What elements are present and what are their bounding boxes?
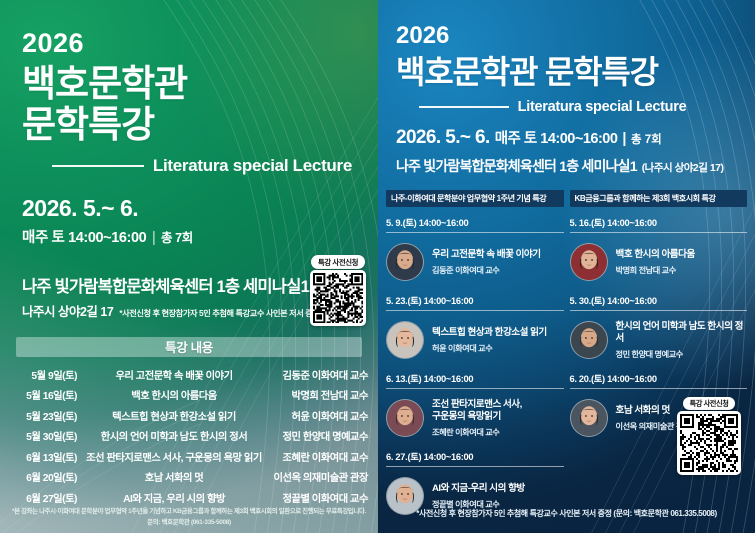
avatar	[570, 321, 608, 359]
column-header-2: KB금융그룹과 함께하는 제3회 백호시회 특강	[570, 190, 748, 207]
card-time: 6. 27.(토) 14:00~16:00	[386, 449, 564, 466]
green-subtitle-row: Literatura special Lecture	[22, 156, 360, 176]
blue-date-row: 2026. 5.~ 6. 매주 토 14:00~16:00 | 총 7회	[396, 127, 739, 149]
green-schedule-row: 매주 토 14:00~16:00 | 총 7회	[22, 226, 360, 247]
session-card[interactable]: 6. 13.(토) 14:00~16:00 조선 판타지로맨스 서사,구운몽의 …	[386, 371, 564, 441]
row-title: 호남 서화의 멋	[84, 469, 264, 484]
session-card[interactable]: 5. 9.(토) 14:00~16:00 우리 고전문학 속 배꽃 이야기 김동…	[386, 215, 564, 285]
avatar	[570, 399, 608, 437]
row-speaker: 김동준 이화여대 교수	[264, 367, 368, 382]
card-rule	[386, 310, 564, 311]
session-card[interactable]: 5. 30.(토) 14:00~16:00 한시의 언어 미학과 남도 한시의 …	[570, 293, 748, 363]
avatar	[386, 321, 424, 359]
green-qr-box[interactable]	[310, 270, 366, 326]
blue-subtitle-rule	[419, 106, 509, 108]
card-speaker: 김동준 이화여대 교수	[432, 264, 541, 276]
green-qr-badge[interactable]: 특강 사전신청	[310, 255, 366, 326]
blue-date-range: 2026. 5.~ 6.	[396, 127, 490, 149]
green-poster: 2026 백호문학관 문학특강 Literatura special Lectu…	[0, 0, 378, 533]
row-title: 텍스트힙 현상과 한강소설 읽기	[84, 408, 264, 423]
blue-qr-code[interactable]	[680, 414, 738, 472]
card-rule	[570, 388, 748, 389]
card-time: 6. 13.(토) 14:00~16:00	[386, 371, 564, 388]
session-card[interactable]: 5. 23.(토) 14:00~16:00 텍스트힙 현상과 한강소설 읽기 허…	[386, 293, 564, 363]
row-speaker: 정끝별 이화여대 교수	[264, 490, 368, 505]
row-title: AI와 지금, 우리 시의 향방	[84, 490, 264, 505]
card-rule	[386, 388, 564, 389]
blue-poster: 2026 백호문학관 문학특강 Literatura special Lectu…	[378, 0, 755, 533]
row-date: 6월 20일(토)	[10, 469, 84, 484]
green-footer-line1: *본 강좌는 나주시·이화여대 문학분야 업무협약 1주년을 기념하고 KB금융…	[0, 506, 378, 515]
avatar	[386, 399, 424, 437]
row-speaker: 이선옥 의재미술관 관장	[264, 469, 368, 484]
card-time: 5. 9.(토) 14:00~16:00	[386, 215, 564, 232]
card-rule	[386, 232, 564, 233]
card-speaker: 조혜란 이화여대 교수	[432, 426, 522, 438]
card-time: 5. 16.(토) 14:00~16:00	[570, 215, 748, 232]
card-time: 6. 20.(토) 14:00~16:00	[570, 371, 748, 388]
blue-schedule-separator: |	[622, 131, 626, 147]
blue-venue-address: (나주시 상야2길 17)	[642, 160, 724, 175]
row-speaker: 허윤 이화여대 교수	[264, 408, 368, 423]
row-date: 5월 23일(토)	[10, 408, 84, 423]
blue-qr-box[interactable]	[677, 411, 741, 475]
card-title: 텍스트힙 현상과 한강소설 읽기	[432, 327, 547, 339]
row-date: 5월 16일(토)	[10, 387, 84, 402]
session-column-1: 나주-이화여대 문학분야 업무협약 1주년 기념 특강 5. 9.(토) 14:…	[386, 190, 564, 519]
card-rule	[386, 466, 564, 467]
table-row: 6월 13일(토) 조선 판타지로맨스 서사, 구운몽의 욕망 읽기 조혜란 이…	[10, 446, 368, 467]
row-date: 5월 9일(토)	[10, 367, 84, 382]
green-signup-note: *사전신청 후 현장참가자 5인 추첨해 특강교수 사인본 저서 증정	[119, 307, 319, 319]
blue-title: 백호문학관 문학특강	[396, 55, 739, 90]
avatar	[570, 243, 608, 281]
green-schedule-text: 매주 토 14:00~16:00	[22, 230, 146, 246]
card-speaker: 박명희 전남대 교수	[616, 264, 695, 276]
green-subtitle: Literatura special Lecture	[153, 156, 352, 176]
card-speaker: 허윤 이화여대 교수	[432, 342, 547, 354]
card-title: 한시의 언어 미학과 남도 한시의 정서	[616, 321, 748, 345]
green-session-count: 총 7회	[161, 231, 193, 245]
card-rule	[570, 310, 748, 311]
card-title: 백호 한시의 아름다움	[616, 249, 695, 261]
row-title: 우리 고전문학 속 배꽃 이야기	[84, 367, 264, 382]
green-table-header: 특강 내용	[16, 337, 362, 357]
blue-header-block: 2026 백호문학관 문학특강 Literatura special Lectu…	[378, 0, 755, 176]
blue-subtitle-row: Literatura special Lecture	[396, 99, 739, 115]
row-date: 6월 27일(토)	[10, 490, 84, 505]
avatar	[386, 243, 424, 281]
row-speaker: 정민 한양대 명예교수	[264, 428, 368, 443]
green-footer-line2: 문의: 백호문학관 (061-335-5008)	[0, 517, 378, 526]
table-row: 5월 16일(토) 백호 한시의 아름다움 박명희 전남대 교수	[10, 384, 368, 405]
card-time: 5. 30.(토) 14:00~16:00	[570, 293, 748, 310]
green-address: 나주시 상야2길 17	[22, 301, 113, 320]
green-qr-caption: 특강 사전신청	[311, 255, 365, 269]
green-schedule-separator: |	[150, 230, 157, 246]
blue-subtitle: Literatura special Lecture	[518, 99, 687, 115]
session-card[interactable]: 5. 16.(토) 14:00~16:00 백호 한시의 아름다움 박명희 전남…	[570, 215, 748, 285]
blue-year: 2026	[396, 24, 739, 48]
table-row: 5월 23일(토) 텍스트힙 현상과 한강소설 읽기 허윤 이화여대 교수	[10, 405, 368, 426]
blue-footer: *사전신청 후 현장참가자 5인 추첨해 특강교수 사인본 저서 증정 (문의:…	[378, 503, 755, 521]
table-row: 6월 27일(토) AI와 지금, 우리 시의 향방 정끝별 이화여대 교수	[10, 487, 368, 508]
row-speaker: 조혜란 이화여대 교수	[264, 449, 368, 464]
table-row: 6월 20일(토) 호남 서화의 멋 이선옥 의재미술관 관장	[10, 466, 368, 487]
blue-venue-row: 나주 빛가람복합문화체육센터 1층 세미나실1 (나주시 상야2길 17)	[396, 156, 739, 176]
green-date-range: 2026. 5.~ 6.	[22, 195, 360, 222]
row-title: 한시의 언어 미학과 남도 한시의 정서	[84, 428, 264, 443]
blue-venue: 나주 빛가람복합문화체육센터 1층 세미나실1	[396, 156, 637, 176]
green-schedule-table: 5월 9일(토) 우리 고전문학 속 배꽃 이야기 김동준 이화여대 교수 5월…	[10, 364, 368, 508]
card-title: 조선 판타지로맨스 서사,구운몽의 욕망읽기	[432, 399, 522, 423]
green-title-line2: 문학특강	[22, 104, 360, 145]
row-date: 6월 13일(토)	[10, 449, 84, 464]
blue-session-count: 총 7회	[631, 131, 662, 147]
card-rule	[570, 232, 748, 233]
card-title: 우리 고전문학 속 배꽃 이야기	[432, 249, 541, 261]
table-row: 5월 30일(토) 한시의 언어 미학과 남도 한시의 정서 정민 한양대 명예…	[10, 425, 368, 446]
row-title: 백호 한시의 아름다움	[84, 387, 264, 402]
row-title: 조선 판타지로맨스 서사, 구운몽의 욕망 읽기	[84, 449, 264, 464]
green-year: 2026	[22, 30, 360, 57]
row-date: 5월 30일(토)	[10, 428, 84, 443]
card-title: AI와 지금-우리 시의 향방	[432, 483, 525, 495]
green-subtitle-rule	[52, 165, 144, 167]
green-qr-code[interactable]	[313, 273, 363, 323]
blue-footer-note: *사전신청 후 현장참가자 5인 추첨해 특강교수 사인본 저서 증정 (문의:…	[416, 509, 716, 518]
poster-pair: 2026 백호문학관 문학특강 Literatura special Lectu…	[0, 0, 755, 533]
table-row: 5월 9일(토) 우리 고전문학 속 배꽃 이야기 김동준 이화여대 교수	[10, 364, 368, 385]
blue-qr-badge[interactable]: 특강 사전신청	[677, 397, 741, 475]
row-speaker: 박명희 전남대 교수	[264, 387, 368, 402]
green-title-line1: 백호문학관	[22, 63, 360, 104]
blue-schedule-text: 매주 토 14:00~16:00	[495, 127, 618, 148]
card-time: 5. 23.(토) 14:00~16:00	[386, 293, 564, 310]
green-footer: *본 강좌는 나주시·이화여대 문학분야 업무협약 1주년을 기념하고 KB금융…	[0, 506, 378, 526]
card-speaker: 정민 한양대 명예교수	[616, 348, 748, 360]
column-header-1: 나주-이화여대 문학분야 업무협약 1주년 기념 특강	[386, 190, 564, 207]
blue-qr-caption: 특강 사전신청	[683, 397, 736, 410]
